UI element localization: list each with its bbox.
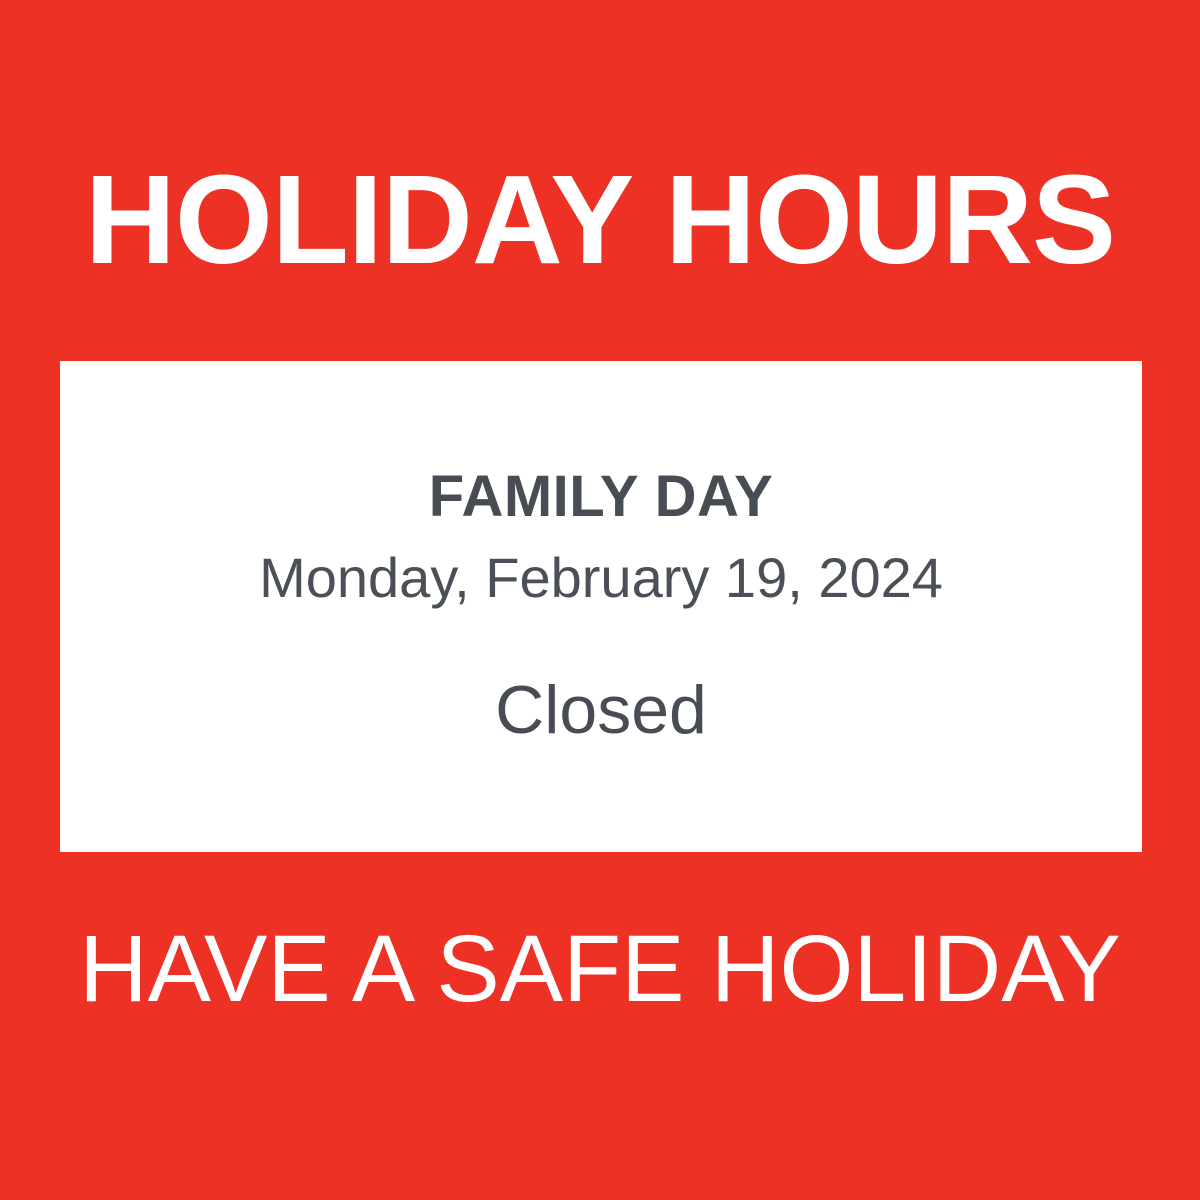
page-title: HOLIDAY HOURS: [85, 157, 1115, 283]
holiday-hours-sign: HOLIDAY HOURS FAMILY DAY Monday, Februar…: [0, 0, 1200, 1200]
holiday-name: FAMILY DAY: [429, 465, 774, 530]
footer-banner: HAVE A SAFE HOLIDAY: [0, 912, 1200, 1027]
headline-banner: HOLIDAY HOURS: [0, 150, 1200, 290]
status-badge: Closed: [495, 673, 707, 748]
holiday-date: Monday, February 19, 2024: [259, 546, 943, 610]
footer-message: HAVE A SAFE HOLIDAY: [79, 922, 1121, 1017]
holiday-detail-card: FAMILY DAY Monday, February 19, 2024 Clo…: [60, 361, 1142, 852]
